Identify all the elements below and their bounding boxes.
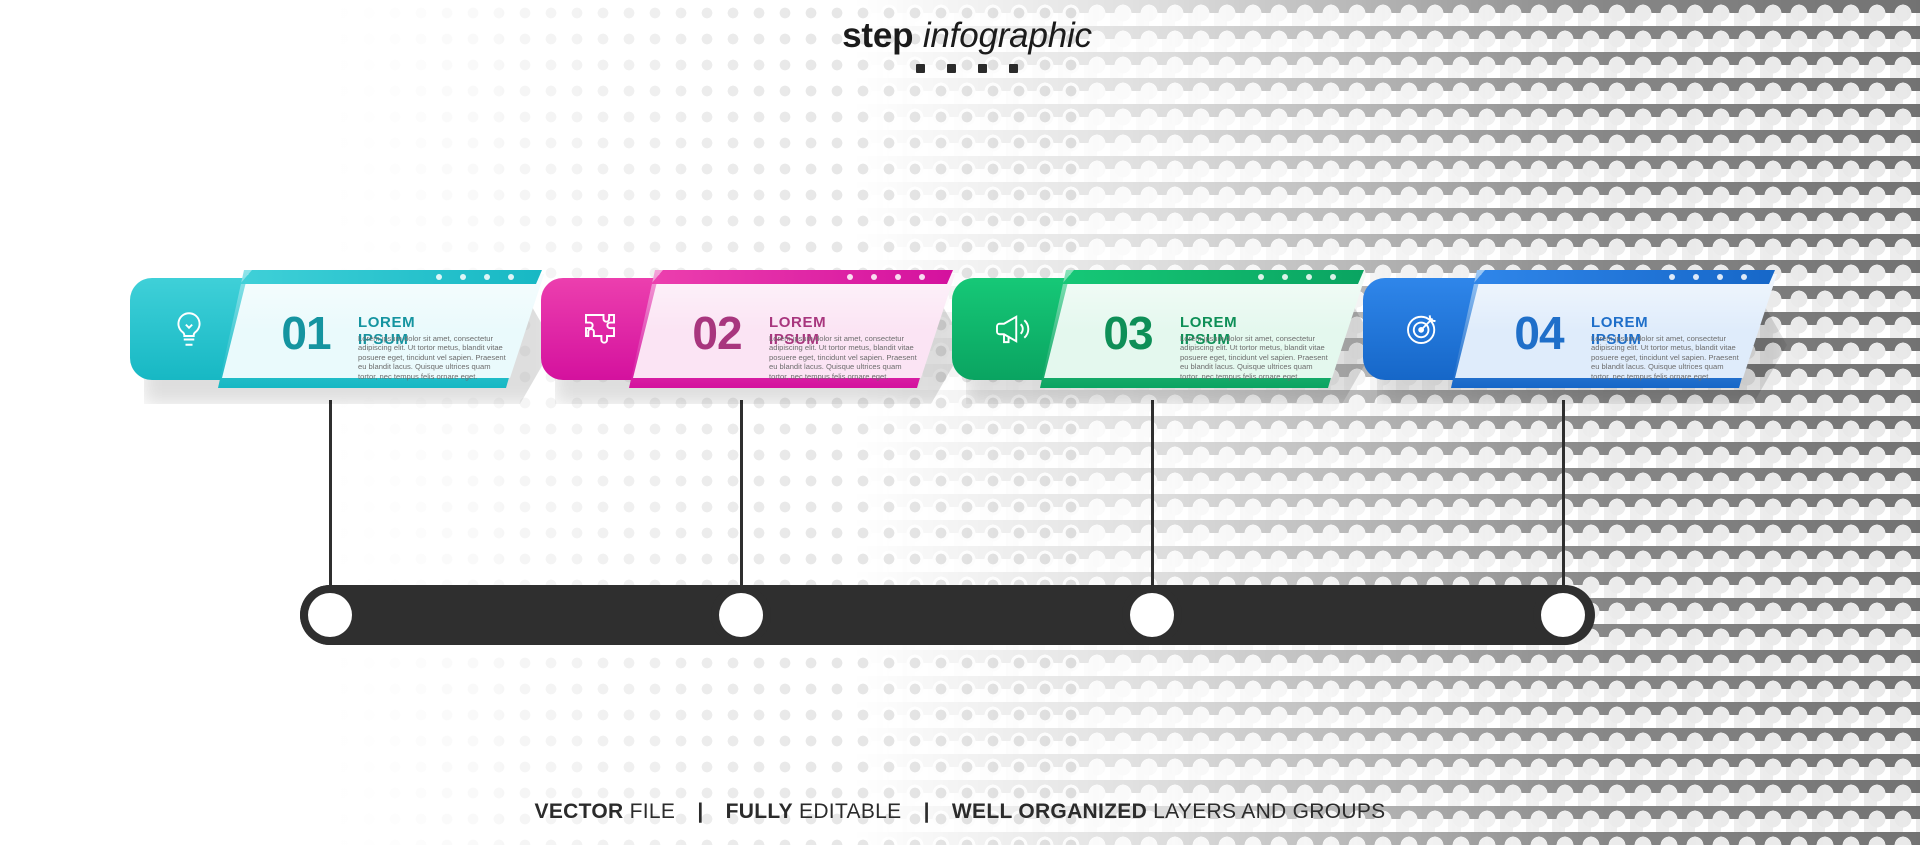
step-number-4: 04 <box>1491 310 1587 356</box>
step-number-2: 02 <box>669 310 765 356</box>
timeline-node-2[interactable] <box>711 585 771 645</box>
footer-fully-bold: FULLY <box>726 800 793 823</box>
step-number-1: 01 <box>258 310 354 356</box>
topbar-dot <box>919 274 925 280</box>
footer-separator: | <box>924 800 930 823</box>
topbar-dot <box>460 274 466 280</box>
lightbulb-icon <box>168 308 210 350</box>
topbar-dot <box>1258 274 1264 280</box>
topbar-dot <box>1282 274 1288 280</box>
page-title-block: step infographic <box>812 16 1122 73</box>
footer-vector-bold: VECTOR <box>535 800 624 823</box>
background-white-fade <box>0 0 520 845</box>
connector-line-1 <box>329 400 332 595</box>
topbar-dot <box>484 274 490 280</box>
megaphone-icon <box>990 308 1032 350</box>
footer-vector-normal: FILE <box>630 800 676 823</box>
page-title-bold: step <box>842 16 913 55</box>
topbar-dot <box>436 274 442 280</box>
topbar-dot <box>508 274 514 280</box>
page-title-italic: infographic <box>923 16 1092 55</box>
timeline-node-1[interactable] <box>300 585 360 645</box>
step-topbar-1 <box>240 270 542 284</box>
topbar-dot <box>1669 274 1675 280</box>
topbar-dot <box>895 274 901 280</box>
puzzle-icon <box>579 308 621 350</box>
step-topbar-4 <box>1473 270 1775 284</box>
timeline-node-3[interactable] <box>1122 585 1182 645</box>
title-dot <box>947 64 956 73</box>
footer-separator: | <box>697 800 703 823</box>
step-topbar-2 <box>651 270 953 284</box>
step-description-1: Lorem ipsum dolor sit amet, consectetur … <box>358 334 510 381</box>
footer-organized-normal: LAYERS AND GROUPS <box>1153 800 1385 823</box>
connector-line-4 <box>1562 400 1565 595</box>
title-dot <box>1009 64 1018 73</box>
topbar-dot <box>1306 274 1312 280</box>
topbar-dot <box>1741 274 1747 280</box>
step-description-3: Lorem ipsum dolor sit amet, consectetur … <box>1180 334 1332 381</box>
title-dot-row <box>812 64 1122 73</box>
title-dot <box>978 64 987 73</box>
target-icon <box>1401 308 1443 350</box>
topbar-dot <box>1330 274 1336 280</box>
step-number-3: 03 <box>1080 310 1176 356</box>
page-title: step infographic <box>812 16 1122 56</box>
footer-fully-normal: EDITABLE <box>799 800 901 823</box>
topbar-dot <box>871 274 877 280</box>
footer-note: VECTOR FILE | FULLY EDITABLE | WELL ORGA… <box>0 800 1920 824</box>
connector-line-2 <box>740 400 743 595</box>
step-description-4: Lorem ipsum dolor sit amet, consectetur … <box>1591 334 1743 381</box>
topbar-dot <box>1717 274 1723 280</box>
topbar-dot <box>1693 274 1699 280</box>
connector-line-3 <box>1151 400 1154 595</box>
topbar-dot <box>847 274 853 280</box>
step-description-2: Lorem ipsum dolor sit amet, consectetur … <box>769 334 921 381</box>
timeline-bar <box>300 585 1595 645</box>
timeline-node-4[interactable] <box>1533 585 1593 645</box>
step-topbar-3 <box>1062 270 1364 284</box>
title-dot <box>916 64 925 73</box>
footer-organized-bold: WELL ORGANIZED <box>952 800 1147 823</box>
